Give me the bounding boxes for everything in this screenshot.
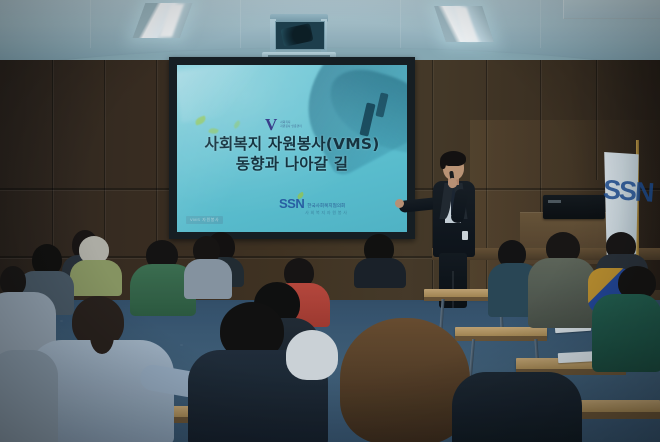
vms-logo: V 사회복지 자원봉사 인증관리: [265, 116, 302, 133]
audience-member: [90, 318, 114, 354]
audience-member: [592, 266, 660, 366]
slide-title-line1: 사회복지 자원봉사(VMS): [177, 134, 407, 154]
ssn-banner-text: SSN: [602, 174, 654, 208]
audience-member: [530, 232, 592, 324]
audience-member: [452, 372, 582, 442]
ceiling-tile: [563, 0, 660, 19]
ssn-logo-subtitle: 사회복지자원봉사: [305, 210, 349, 216]
audience-member: [186, 236, 230, 296]
ssn-logo: SSN 한국사회복지협의회: [279, 197, 345, 210]
projection-screen: V 사회복지 자원봉사 인증관리 사회복지 자원봉사(VMS) 동향과 나아갈 …: [169, 57, 415, 239]
audience-member: [0, 350, 52, 442]
confidence-monitor: [543, 195, 605, 219]
slide-title-line2: 동향과 나아갈 길: [177, 154, 407, 174]
audience-member: [356, 234, 406, 282]
vms-logo-line1: 사회복지: [280, 121, 302, 124]
ssn-logo-mark: SSN: [279, 197, 304, 210]
vms-logo-line2: 자원봉사 인증관리: [280, 125, 302, 128]
presenter: [415, 145, 495, 310]
audience-member: [74, 236, 120, 292]
presenter-hand-left: [395, 199, 404, 208]
vms-logo-mark: V: [265, 116, 277, 133]
lecture-hall-photo: V 사회복지 자원봉사 인증관리 사회복지 자원봉사(VMS) 동향과 나아갈 …: [0, 0, 660, 442]
leaf-icon: [232, 120, 241, 129]
presentation-slide: V 사회복지 자원봉사 인증관리 사회복지 자원봉사(VMS) 동향과 나아갈 …: [177, 65, 407, 232]
name-badge: [462, 231, 468, 240]
slide-corner-tag: VMS 자원봉사: [186, 216, 223, 224]
slide-title: 사회복지 자원봉사(VMS) 동향과 나아갈 길: [177, 134, 407, 175]
